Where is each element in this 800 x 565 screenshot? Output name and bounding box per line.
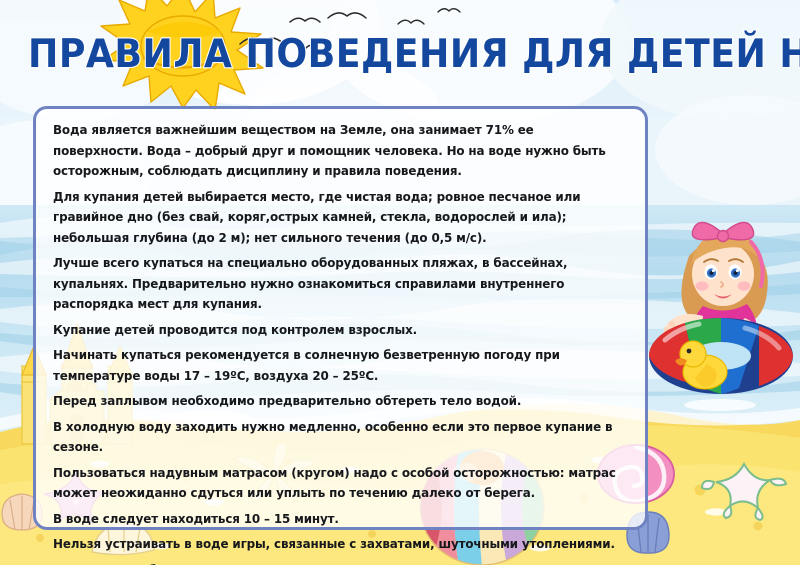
rule-paragraph: Пользоваться надувным матрасом (кругом) …	[53, 463, 622, 504]
rule-paragraph: Купание детей проводится под контролем в…	[53, 320, 622, 341]
girl-in-swim-ring-icon	[645, 212, 800, 402]
rule-paragraph: Лучше всего купаться на специально обору…	[53, 253, 622, 315]
page-title: ПРАВИЛА ПОВЕДЕНИЯ ДЛЯ ДЕТЕЙ НА ВОДЕ	[28, 32, 772, 77]
rule-paragraph: Для купания детей выбирается место, где …	[53, 187, 622, 249]
poster-root: ПРАВИЛА ПОВЕДЕНИЯ ДЛЯ ДЕТЕЙ НА ВОДЕ Вода…	[0, 0, 800, 565]
rule-paragraph: Вода является важнейшим веществом на Зем…	[53, 120, 622, 182]
rule-paragraph: Нельзя устраивать в воде игры, связанные…	[53, 534, 622, 555]
rule-paragraph: Перед заплывом необходимо предварительно…	[53, 391, 622, 412]
rule-paragraph: В воде следует находиться 10 – 15 минут.	[53, 509, 622, 530]
rules-panel: Вода является важнейшим веществом на Зем…	[33, 106, 648, 530]
starfish-icon	[700, 460, 788, 522]
rule-paragraph: При грозе необходимо немедленно выходить…	[53, 560, 622, 565]
rule-paragraph: В холодную воду заходить нужно медленно,…	[53, 417, 622, 458]
rule-paragraph: Начинать купаться рекомендуется в солнеч…	[53, 345, 622, 386]
